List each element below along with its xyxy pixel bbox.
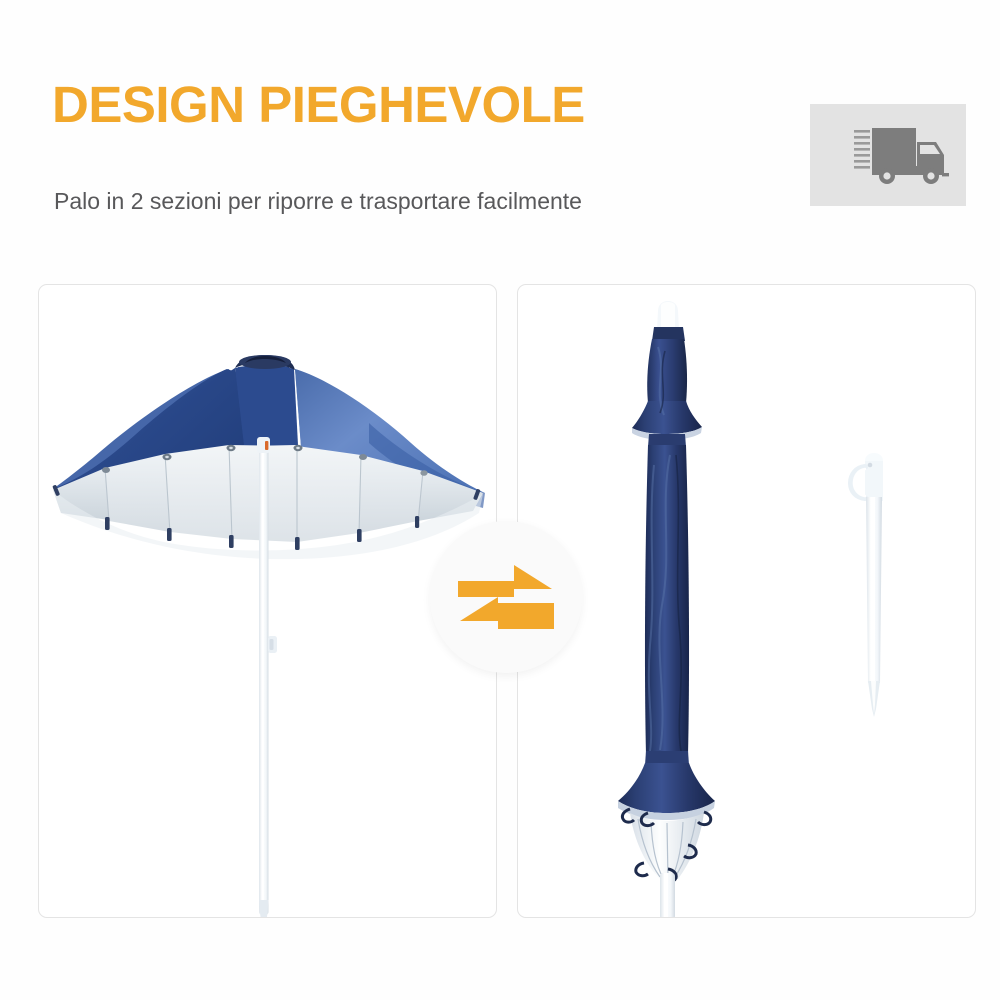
beach-umbrella-open-illustration xyxy=(39,285,497,918)
infographic-page: DESIGN PIEGHEVOLE Palo in 2 sezioni per … xyxy=(0,0,1000,1000)
swap-badge xyxy=(430,521,582,673)
beach-umbrella-folded-illustration xyxy=(518,285,976,918)
panel-open-umbrella[interactable] xyxy=(38,284,497,918)
panel-folded-umbrella[interactable] xyxy=(517,284,976,918)
delivery-truck-icon xyxy=(854,124,954,186)
shipping-badge xyxy=(810,104,966,206)
page-subtitle: Palo in 2 sezioni per riporre e trasport… xyxy=(54,188,582,215)
page-title: DESIGN PIEGHEVOLE xyxy=(52,78,585,132)
exchange-arrows-icon xyxy=(452,557,560,637)
